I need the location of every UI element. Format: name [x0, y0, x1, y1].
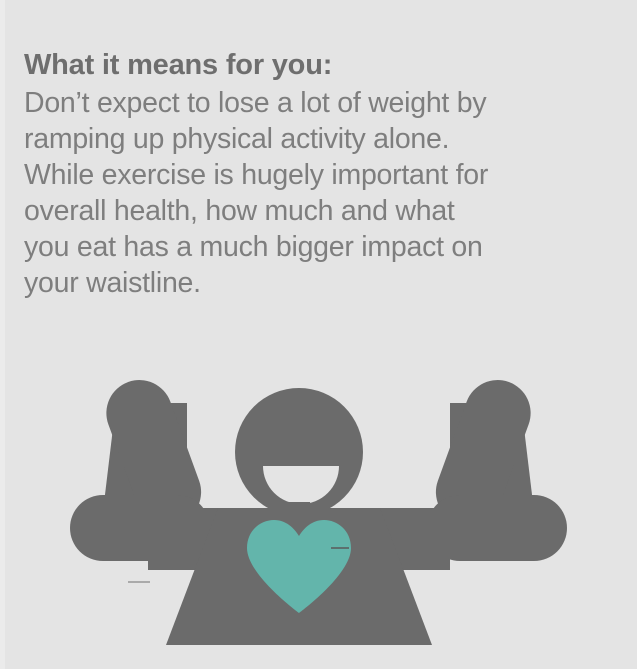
- dash-artifact-right: [331, 547, 349, 549]
- callout-body-line-4: overall health, how much and what: [24, 193, 594, 229]
- dash-artifact-left: [128, 581, 150, 583]
- callout-body-line-3: While exercise is hugely important for: [24, 157, 594, 193]
- illustration-happy-person-with-heart: [0, 370, 637, 669]
- figure-svg: [0, 370, 637, 669]
- callout-body-line-6: your waistline.: [24, 265, 594, 301]
- callout-card: What it means for you: Don’t expect to l…: [0, 0, 637, 669]
- callout-headline: What it means for you:: [24, 47, 594, 84]
- callout-text-block: What it means for you: Don’t expect to l…: [24, 47, 594, 301]
- callout-body-line-1: Don’t expect to lose a lot of weight by: [24, 85, 594, 121]
- callout-body-line-2: ramping up physical activity alone.: [24, 121, 594, 157]
- head-icon: [235, 388, 363, 516]
- callout-body-line-5: you eat has a much bigger impact on: [24, 229, 594, 265]
